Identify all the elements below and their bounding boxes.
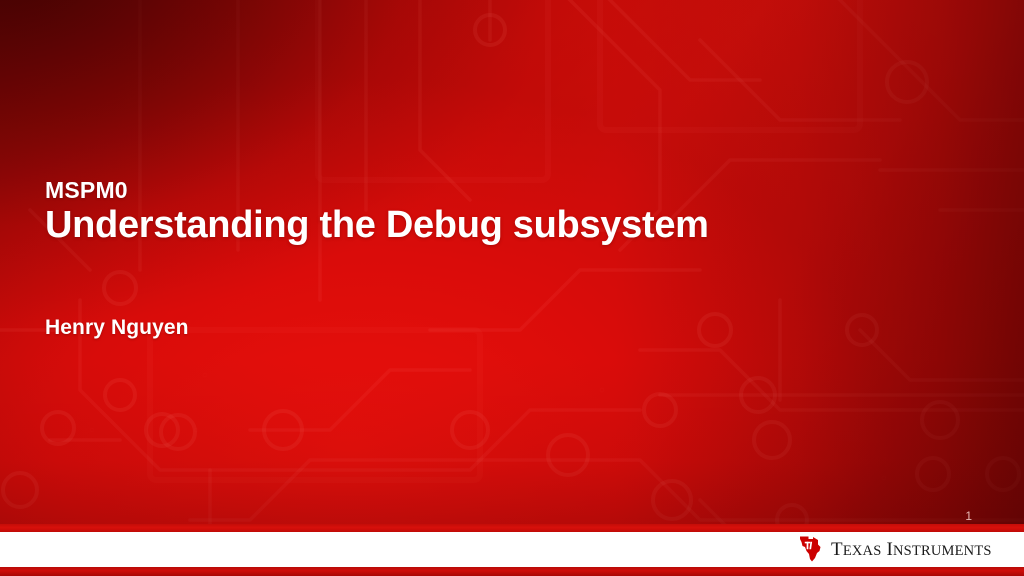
texas-instruments-logo: TEXAS INSTRUMENTS xyxy=(798,534,992,564)
title-text-block: MSPM0 Understanding the Debug subsystem xyxy=(45,178,925,248)
footer-top-red-band xyxy=(0,524,1024,532)
slide-eyebrow-label: MSPM0 xyxy=(45,178,925,202)
page-number: 1 xyxy=(965,509,972,523)
wordmark-texas-cap: T xyxy=(831,539,843,560)
footer-bottom-red-band xyxy=(0,567,1024,576)
background-vignette-bottom xyxy=(0,0,1024,576)
title-slide: MSPM0 Understanding the Debug subsystem … xyxy=(0,0,1024,576)
slide-title: Understanding the Debug subsystem xyxy=(45,204,925,248)
wordmark-instruments-rest: NSTRUMENTS xyxy=(893,543,992,559)
texas-instruments-logo-icon xyxy=(798,536,822,562)
presenter-name: Henry Nguyen xyxy=(45,316,189,340)
texas-instruments-wordmark: TEXAS INSTRUMENTS xyxy=(831,540,992,559)
wordmark-texas-rest: EXAS xyxy=(843,543,882,559)
